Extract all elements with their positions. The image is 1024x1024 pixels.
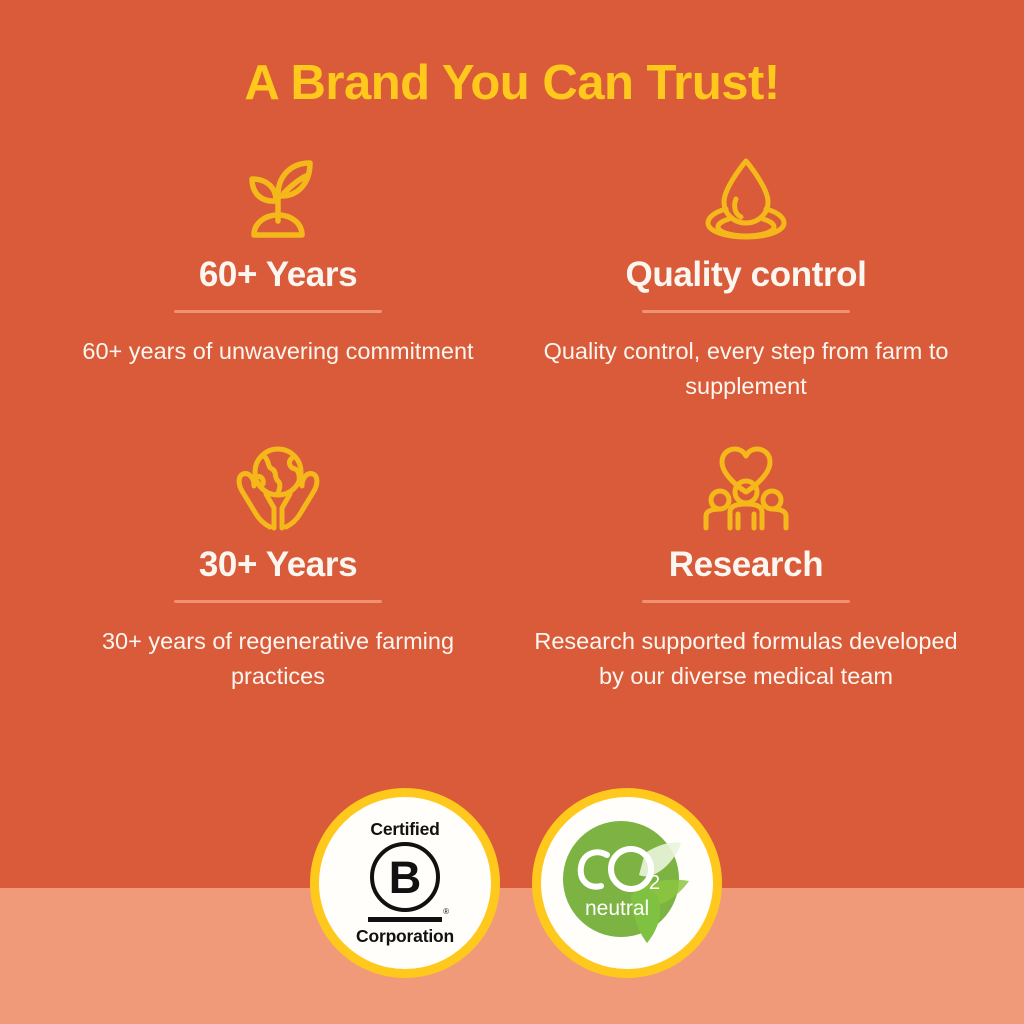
feature-description: 60+ years of unwavering commitment bbox=[48, 334, 508, 369]
co2-content: 2 neutral CO bbox=[541, 797, 713, 969]
feature-card-30-years: 30+ Years 30+ years of regenerative farm… bbox=[48, 440, 508, 694]
co2-neutral-badge: 2 neutral CO bbox=[532, 788, 722, 978]
promo-graphic: A Brand You Can Trust! 60+ Years 60+ yea… bbox=[0, 0, 1024, 1024]
feature-card-research: Research Research supported formulas dev… bbox=[516, 440, 976, 694]
feature-description: 30+ years of regenerative farming practi… bbox=[48, 624, 508, 695]
bcorp-corporation-label: Corporation bbox=[356, 926, 454, 947]
bcorp-b-mark: B bbox=[370, 842, 440, 912]
feature-heading: Quality control bbox=[516, 256, 976, 295]
bcorp-content: Certified B ® Corporation bbox=[319, 797, 491, 969]
co2-neutral-label: neutral bbox=[585, 897, 649, 920]
feature-divider bbox=[174, 600, 382, 603]
bcorp-bar bbox=[368, 917, 442, 922]
feature-divider bbox=[642, 310, 850, 313]
feature-divider bbox=[642, 600, 850, 603]
feature-heading: 60+ Years bbox=[48, 256, 508, 295]
feature-card-quality-control: Quality control Quality control, every s… bbox=[516, 150, 976, 404]
feature-description: Research supported formulas developed by… bbox=[516, 624, 976, 695]
page-title: A Brand You Can Trust! bbox=[0, 55, 1024, 111]
registered-trademark-icon: ® bbox=[443, 908, 449, 916]
feature-divider bbox=[174, 310, 382, 313]
certification-badges: Certified B ® Corporation bbox=[0, 788, 1024, 983]
bcorp-bar-wrap: ® bbox=[368, 917, 442, 922]
water-drop-ripple-icon bbox=[516, 150, 976, 246]
certified-b-corporation-badge: Certified B ® Corporation bbox=[310, 788, 500, 978]
feature-grid: 60+ Years 60+ years of unwavering commit… bbox=[0, 150, 1024, 770]
feature-heading: 30+ Years bbox=[48, 546, 508, 585]
co2-leaf-graphic: 2 neutral bbox=[541, 797, 713, 969]
hands-holding-globe-icon bbox=[48, 440, 508, 536]
feature-heading: Research bbox=[516, 546, 976, 585]
sprout-icon bbox=[48, 150, 508, 246]
bcorp-certified-label: Certified bbox=[370, 819, 439, 840]
co2-subscript: 2 bbox=[649, 872, 660, 894]
family-heart-icon bbox=[516, 440, 976, 536]
feature-card-60-years: 60+ Years 60+ years of unwavering commit… bbox=[48, 150, 508, 369]
feature-description: Quality control, every step from farm to… bbox=[516, 334, 976, 405]
